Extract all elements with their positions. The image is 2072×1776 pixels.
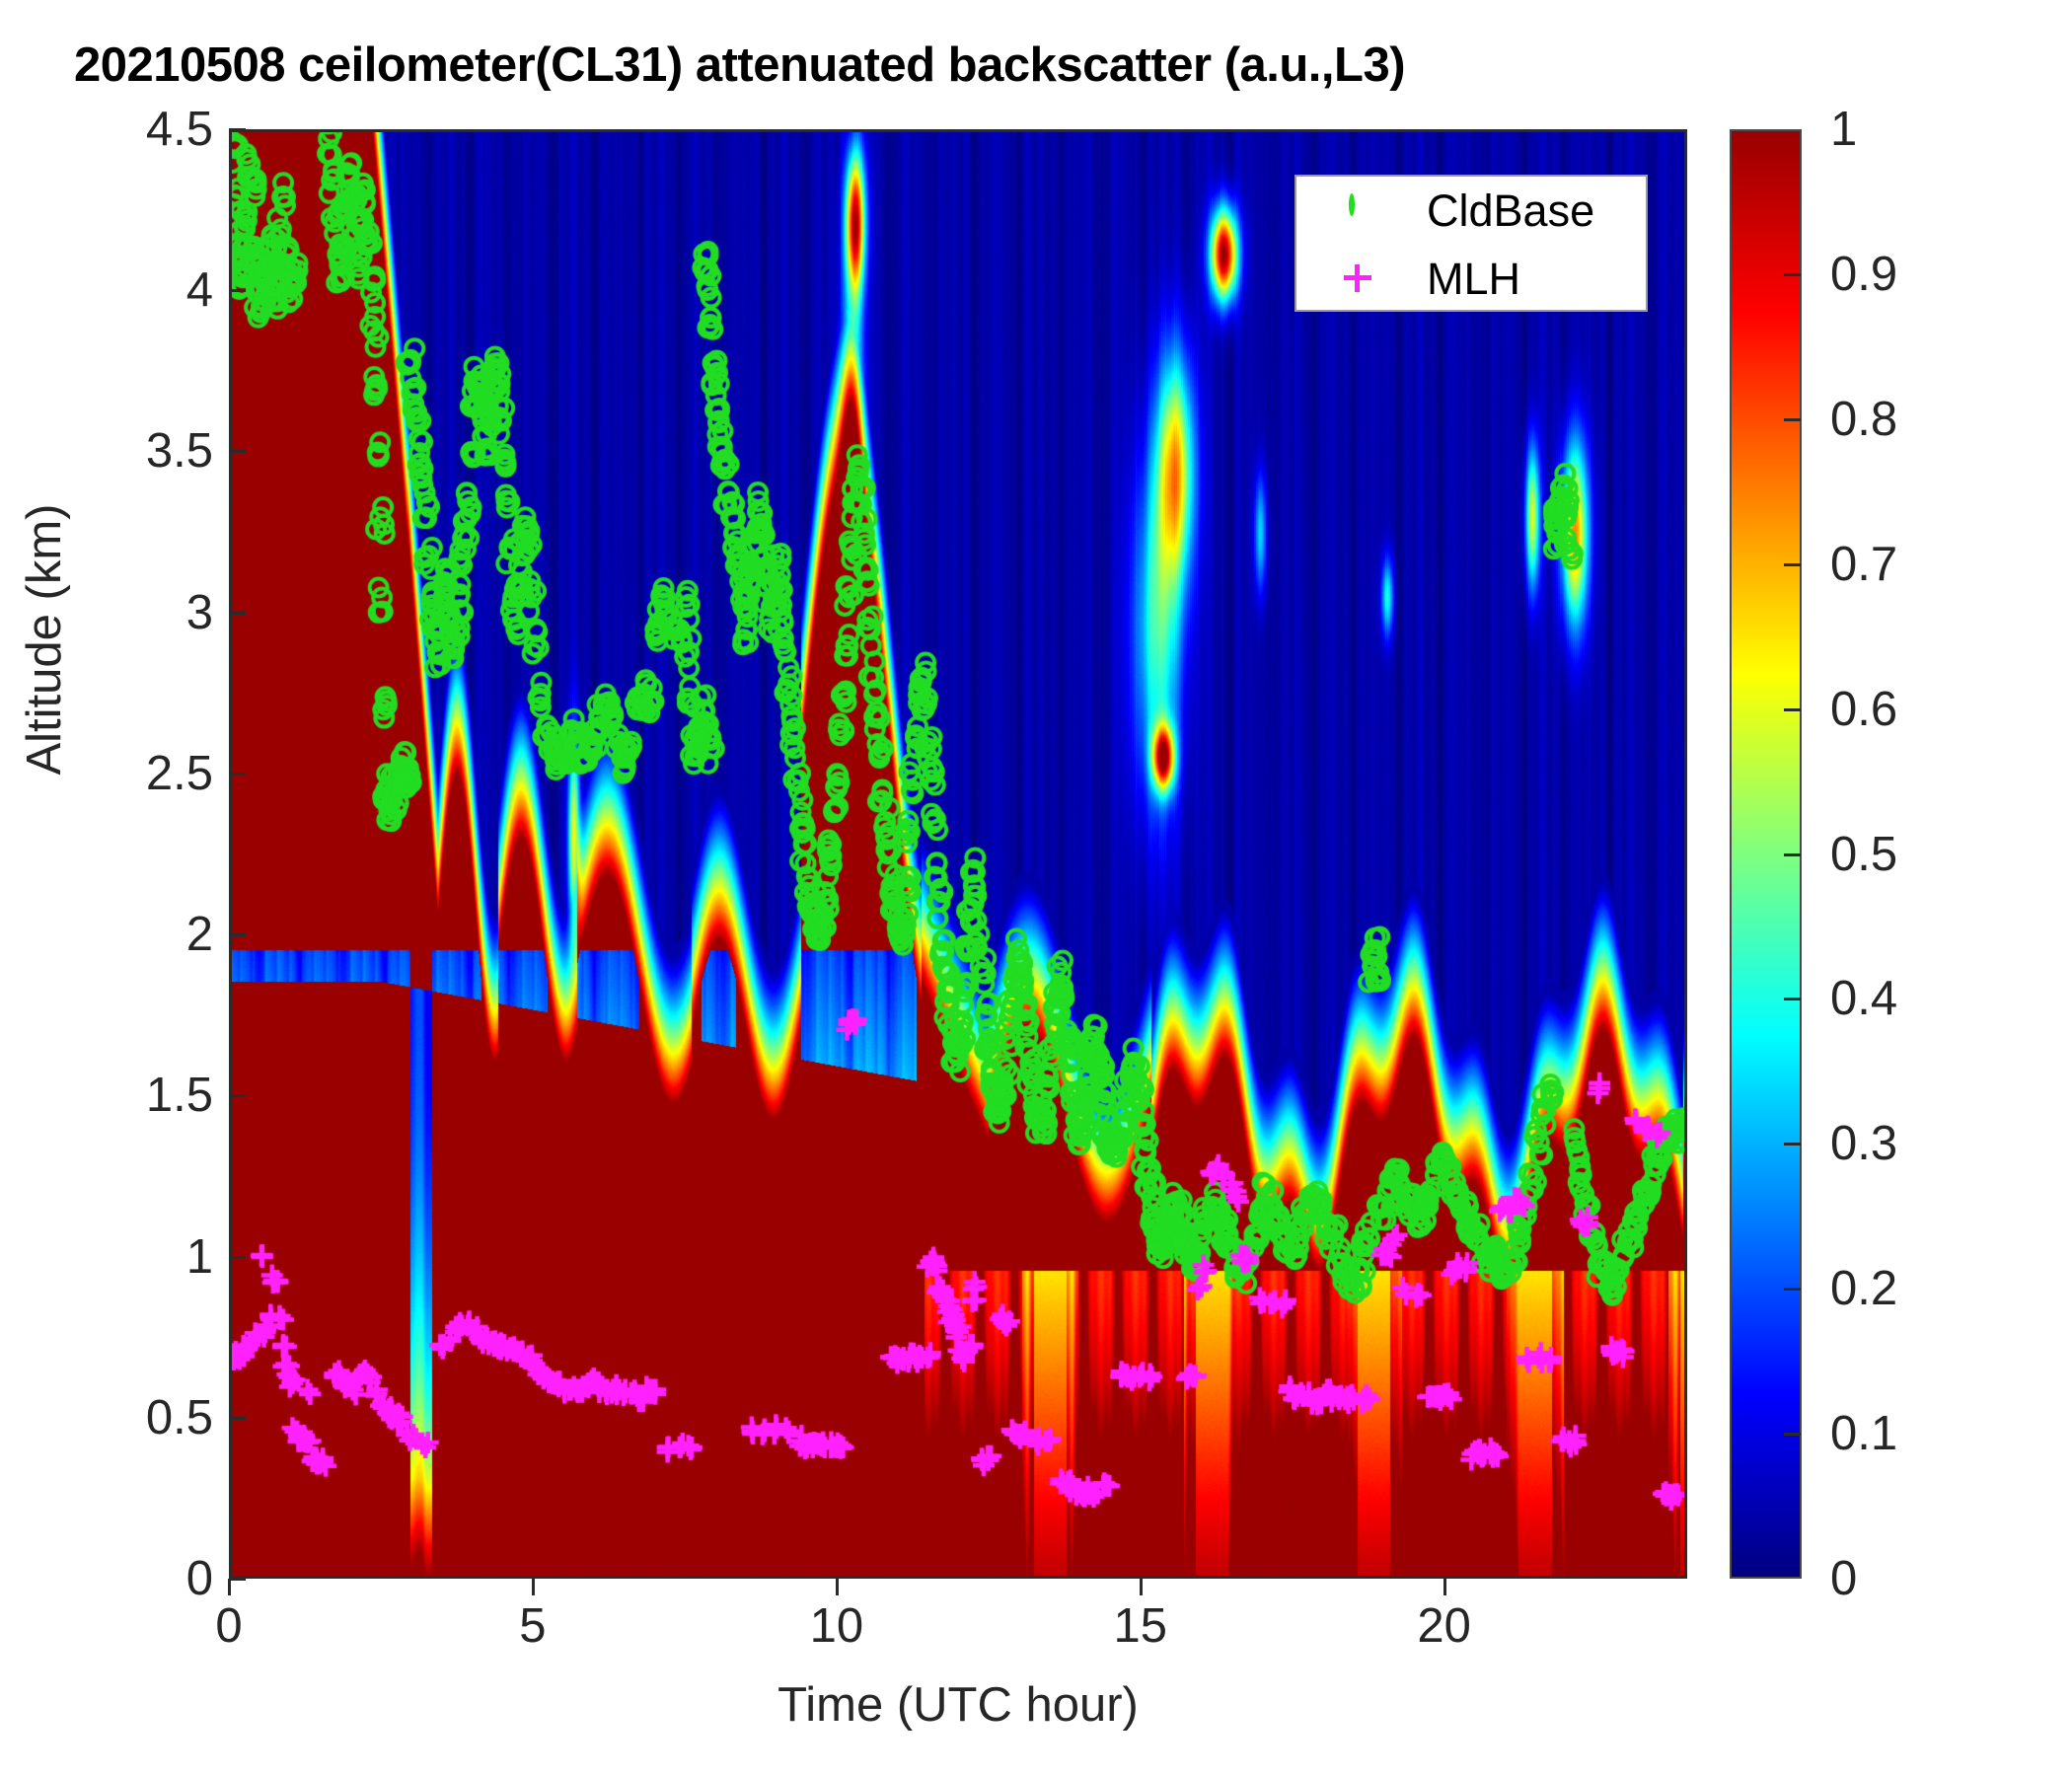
y-tick-label: 2 xyxy=(186,907,213,962)
colorbar-tick-mark xyxy=(1784,853,1801,856)
colorbar-tick-mark xyxy=(1784,1433,1801,1436)
figure-container: 20210508 ceilometer(CL31) attenuated bac… xyxy=(0,0,2072,1776)
y-tick-mark xyxy=(229,289,246,292)
x-tick-label: 5 xyxy=(519,1598,546,1654)
y-tick-mark xyxy=(229,773,246,776)
legend-label-cldbase: CldBase xyxy=(1427,185,1594,237)
x-tick-label: 20 xyxy=(1417,1598,1471,1654)
circle-marker-icon xyxy=(1344,196,1373,226)
x-tick-mark xyxy=(1443,1579,1446,1595)
y-tick-label: 2.5 xyxy=(146,746,213,801)
y-tick-mark xyxy=(229,128,246,131)
y-tick-mark xyxy=(229,1417,246,1420)
y-tick-label: 0 xyxy=(186,1551,213,1606)
y-tick-mark xyxy=(229,1578,246,1581)
colorbar-tick-label: 0.4 xyxy=(1830,971,1897,1026)
y-axis-tick-labels: 00.511.522.533.544.5 xyxy=(0,0,213,1776)
y-tick-label: 0.5 xyxy=(146,1390,213,1445)
legend-entry-cldbase[interactable]: CldBase xyxy=(1296,177,1646,245)
colorbar-tick-mark xyxy=(1784,1288,1801,1291)
colorbar-tick-label: 0.3 xyxy=(1830,1116,1897,1171)
colorbar-tick-label: 0.7 xyxy=(1830,537,1897,592)
colorbar-tick-mark xyxy=(1784,998,1801,1000)
x-tick-mark xyxy=(1140,1579,1143,1595)
y-tick-label: 3.5 xyxy=(146,423,213,479)
colorbar-tick-mark xyxy=(1784,563,1801,566)
y-tick-label: 3 xyxy=(186,585,213,640)
y-tick-label: 1 xyxy=(186,1229,213,1285)
colorbar-tick-mark xyxy=(1784,708,1801,711)
colorbar-tick-label: 0.6 xyxy=(1830,682,1897,737)
chart-legend[interactable]: CldBase MLH xyxy=(1295,175,1648,312)
y-tick-mark xyxy=(229,933,246,936)
colorbar-tick-label: 0.9 xyxy=(1830,247,1897,302)
y-tick-label: 4 xyxy=(186,262,213,318)
y-tick-mark xyxy=(229,1256,246,1259)
x-tick-label: 10 xyxy=(810,1598,864,1654)
legend-entry-mlh[interactable]: MLH xyxy=(1296,245,1646,313)
x-tick-mark xyxy=(228,1579,231,1595)
heatmap-plot-area[interactable] xyxy=(229,129,1687,1579)
x-tick-mark xyxy=(836,1579,839,1595)
colorbar-tick-label: 0 xyxy=(1830,1551,1857,1606)
y-tick-mark xyxy=(229,1094,246,1097)
y-tick-label: 1.5 xyxy=(146,1068,213,1123)
x-axis-title: Time (UTC hour) xyxy=(229,1677,1687,1733)
colorbar-tick-label: 0.8 xyxy=(1830,392,1897,447)
x-tick-label: 0 xyxy=(215,1598,242,1654)
y-tick-label: 4.5 xyxy=(146,102,213,157)
x-tick-mark xyxy=(532,1579,535,1595)
chart-title: 20210508 ceilometer(CL31) attenuated bac… xyxy=(74,37,1672,93)
colorbar-tick-mark xyxy=(1784,273,1801,276)
x-tick-label: 15 xyxy=(1113,1598,1167,1654)
colorbar-tick-label: 0.2 xyxy=(1830,1261,1897,1316)
y-tick-mark xyxy=(229,612,246,615)
colorbar-tick-mark xyxy=(1784,418,1801,421)
colorbar-tick-label: 0.1 xyxy=(1830,1406,1897,1461)
y-axis-title: Altitude (km) xyxy=(17,407,72,871)
legend-label-mlh: MLH xyxy=(1427,254,1520,305)
colorbar-tick-label: 1 xyxy=(1830,102,1857,157)
plus-marker-icon xyxy=(1344,264,1373,294)
y-tick-mark xyxy=(229,450,246,453)
colorbar-tick-mark xyxy=(1784,1143,1801,1146)
backscatter-heatmap-canvas xyxy=(232,132,1684,1576)
colorbar-tick-label: 0.5 xyxy=(1830,827,1897,882)
